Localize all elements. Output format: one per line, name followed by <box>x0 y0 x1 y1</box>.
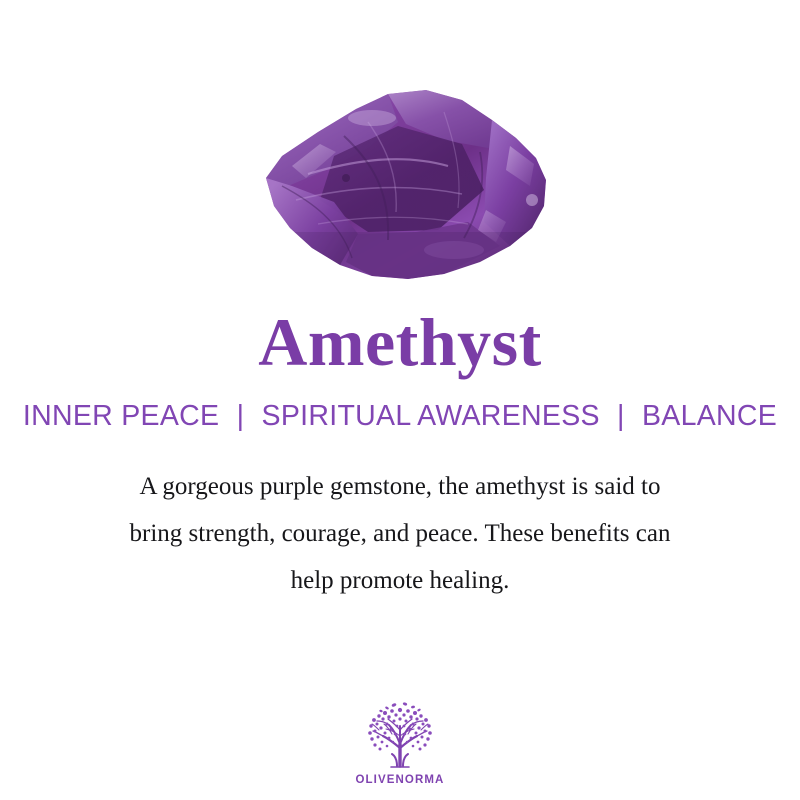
amethyst-info-card: Amethyst INNER PEACE | SPIRITUAL AWARENE… <box>0 0 800 800</box>
tree-of-life-icon <box>361 700 439 772</box>
keyword-spiritual-awareness: SPIRITUAL AWARENESS <box>262 400 600 432</box>
page-title: Amethyst <box>258 308 542 376</box>
keyword-inner-peace: INNER PEACE <box>23 400 220 432</box>
keyword-balance: BALANCE <box>642 400 777 432</box>
description-line: help promote healing. <box>50 557 750 604</box>
description-line: bring strength, courage, and peace. Thes… <box>50 510 750 557</box>
keyword-list: INNER PEACE | SPIRITUAL AWARENESS | BALA… <box>23 400 777 433</box>
hero-image-area <box>0 0 800 320</box>
description-line: A gorgeous purple gemstone, the amethyst… <box>50 463 750 510</box>
description-paragraph: A gorgeous purple gemstone, the amethyst… <box>50 463 750 604</box>
keyword-separator: | <box>228 400 254 433</box>
brand-logo: OLIVENORMA <box>0 700 800 786</box>
brand-name: OLIVENORMA <box>356 774 445 786</box>
amethyst-crystal-image <box>248 82 558 292</box>
keyword-separator: | <box>608 400 634 433</box>
